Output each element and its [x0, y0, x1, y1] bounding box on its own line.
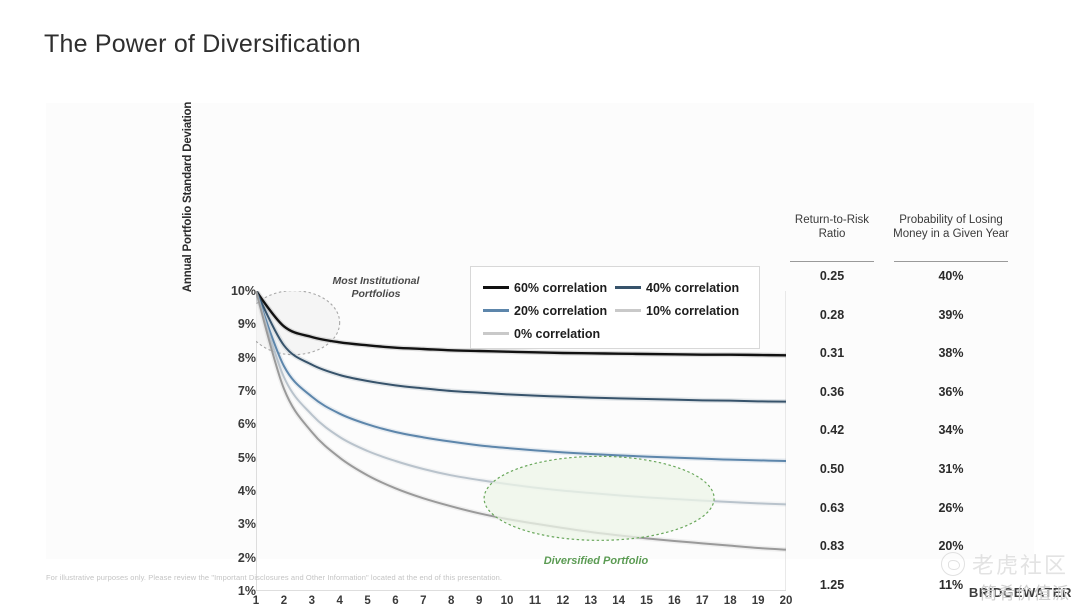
legend-item[interactable]: 10% correlation: [615, 299, 747, 322]
x-tick-label: 7: [420, 595, 426, 607]
y-tick-label: 7%: [216, 384, 256, 398]
x-tick-label: 13: [584, 595, 597, 607]
x-tick-label: 5: [364, 595, 370, 607]
table-row: 0.6326%: [784, 501, 1024, 517]
table-header-divider: [894, 261, 1008, 262]
y-tick-label: 10%: [216, 284, 256, 298]
cell-probability: 34%: [888, 423, 1014, 437]
x-tick-label: 1: [253, 595, 259, 607]
watermark-text: 老虎社区: [972, 548, 1068, 580]
annotation-line: Most Institutional: [311, 275, 441, 288]
legend-item[interactable]: 40% correlation: [615, 276, 747, 299]
cell-return-to-risk: 0.31: [784, 346, 880, 360]
cell-return-to-risk: 0.36: [784, 385, 880, 399]
annotation-most-institutional-portfolios: Most InstitutionalPortfolios: [311, 275, 441, 301]
page-title: The Power of Diversification: [44, 30, 361, 59]
x-tick-label: 14: [612, 595, 625, 607]
legend-swatch-icon: [483, 332, 509, 335]
legend-swatch-icon: [615, 286, 641, 289]
x-tick-label: 15: [640, 595, 653, 607]
legend-item[interactable]: 0% correlation: [483, 322, 619, 345]
legend-label: 10% correlation: [646, 304, 739, 318]
legend-item[interactable]: 60% correlation: [483, 276, 615, 299]
footnote: For illustrative purposes only. Please r…: [46, 573, 502, 582]
cell-probability: 39%: [888, 308, 1014, 322]
legend-label: 40% correlation: [646, 281, 739, 295]
y-tick-label: 5%: [216, 451, 256, 465]
cell-probability: 38%: [888, 346, 1014, 360]
legend-label: 20% correlation: [514, 304, 607, 318]
cell-return-to-risk: 0.83: [784, 539, 880, 553]
cell-return-to-risk: 0.42: [784, 423, 880, 437]
y-tick-label: 1%: [216, 584, 256, 598]
y-axis-title: Annual Portfolio Standard Deviation: [182, 77, 194, 317]
watermark-overlay-text: 简肴价值派: [980, 579, 1070, 604]
y-tick-label: 4%: [216, 484, 256, 498]
table-row: 0.4234%: [784, 423, 1024, 439]
legend-row: 60% correlation40% correlation: [483, 276, 747, 299]
table-row: 0.3138%: [784, 346, 1024, 362]
x-tick-label: 10: [501, 595, 514, 607]
y-tick-label: 6%: [216, 417, 256, 431]
y-tick-label: 9%: [216, 317, 256, 331]
x-tick-label: 4: [336, 595, 342, 607]
legend-swatch-icon: [483, 286, 509, 289]
cell-probability: 40%: [888, 269, 1014, 283]
legend-item[interactable]: 20% correlation: [483, 299, 615, 322]
annotation-diversified-portfolio: Diversified Portfolio: [516, 555, 676, 567]
cell-return-to-risk: 1.25: [784, 578, 880, 592]
x-tick-label: 12: [556, 595, 569, 607]
legend-row: 20% correlation10% correlation: [483, 299, 747, 322]
y-tick-label: 8%: [216, 351, 256, 365]
cell-probability: 31%: [888, 462, 1014, 476]
table-header-return-to-risk: Return-to-Risk Ratio: [784, 213, 880, 241]
x-tick-label: 6: [392, 595, 398, 607]
slide-root: The Power of Diversification Annual Port…: [0, 0, 1080, 608]
diversified-highlight-ellipse: [484, 456, 714, 540]
table-row: 0.2839%: [784, 308, 1024, 324]
watermark: 老虎社区: [941, 548, 1068, 580]
x-tick-label: 11: [529, 595, 541, 607]
legend-label: 0% correlation: [514, 327, 600, 341]
tiger-logo-icon: [941, 552, 965, 576]
legend-label: 60% correlation: [514, 281, 607, 295]
chart-legend: 60% correlation40% correlation20% correl…: [470, 266, 760, 349]
x-tick-label: 19: [752, 595, 765, 607]
table-row: 0.3636%: [784, 385, 1024, 401]
content-panel: Annual Portfolio Standard Deviation 1%2%…: [46, 103, 1034, 559]
legend-swatch-icon: [615, 309, 641, 312]
cell-return-to-risk: 0.25: [784, 269, 880, 283]
x-tick-label: 8: [448, 595, 454, 607]
x-tick-label: 17: [696, 595, 709, 607]
cell-probability: 36%: [888, 385, 1014, 399]
y-tick-label: 2%: [216, 551, 256, 565]
x-tick-label: 9: [476, 595, 482, 607]
legend-row: 0% correlation: [483, 322, 747, 345]
cell-return-to-risk: 0.63: [784, 501, 880, 515]
table-row: 0.2540%: [784, 269, 1024, 285]
x-tick-label: 2: [281, 595, 287, 607]
cell-return-to-risk: 0.50: [784, 462, 880, 476]
cell-probability: 26%: [888, 501, 1014, 515]
cell-return-to-risk: 0.28: [784, 308, 880, 322]
y-axis-ticks: 1%2%3%4%5%6%7%8%9%10%: [208, 291, 256, 591]
table-header-probability-losing-money: Probability of Losing Money in a Given Y…: [888, 213, 1014, 241]
table-row: 0.5031%: [784, 462, 1024, 478]
annotation-line: Portfolios: [311, 288, 441, 301]
x-tick-label: 3: [309, 595, 315, 607]
x-tick-label: 18: [724, 595, 737, 607]
x-tick-label: 16: [668, 595, 681, 607]
table-header-divider: [790, 261, 874, 262]
x-axis-ticks: 1234567891011121314151617181920: [256, 595, 786, 608]
metrics-table: Return-to-Risk Ratio Probability of Losi…: [784, 213, 1024, 598]
legend-swatch-icon: [483, 309, 509, 312]
y-tick-label: 3%: [216, 517, 256, 531]
